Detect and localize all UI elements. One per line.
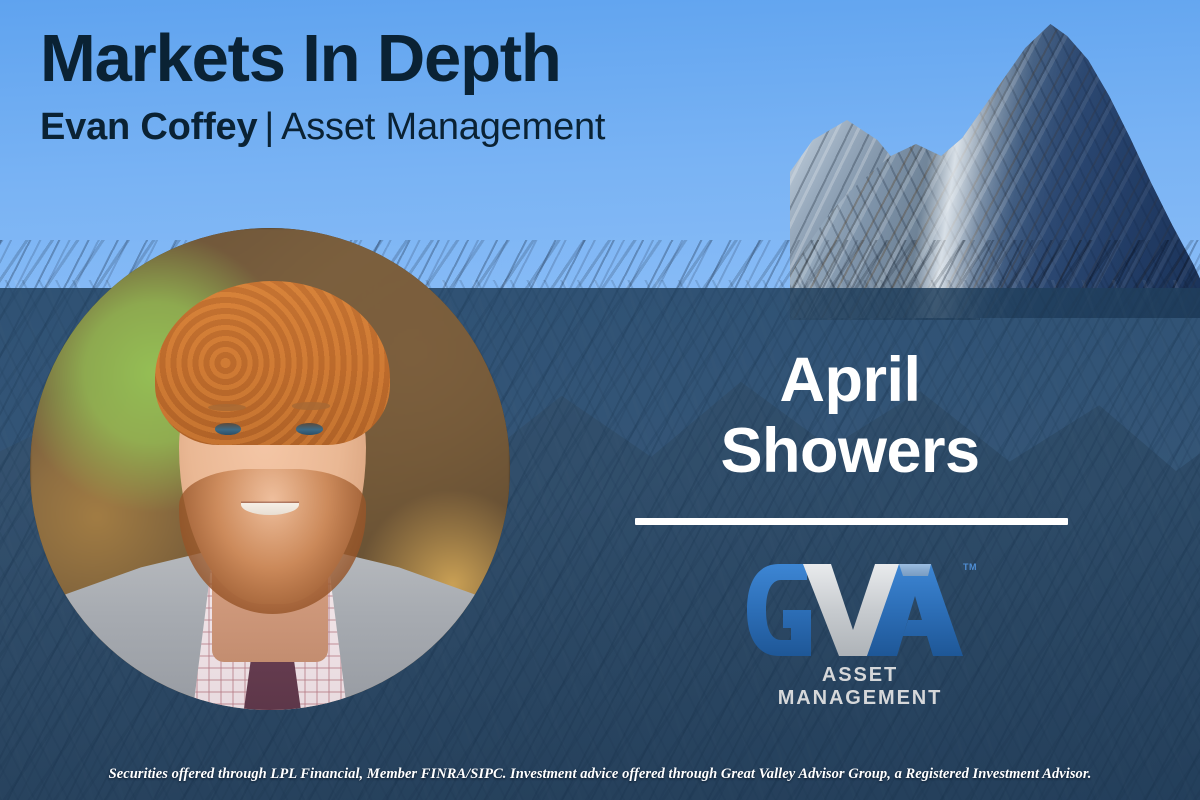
headline-block: April Showers	[630, 345, 1070, 486]
disclaimer-text: Securities offered through LPL Financial…	[0, 766, 1200, 783]
headline-line-1: April	[630, 345, 1070, 416]
gva-logo: TM ASSET MANAGEMENT	[745, 560, 975, 700]
byline: Evan Coffey|Asset Management	[40, 106, 605, 149]
avatar	[30, 228, 510, 710]
page-title: Markets In Depth	[40, 24, 605, 94]
trademark-icon: TM	[963, 562, 977, 572]
department-label: Asset Management	[281, 106, 605, 148]
logo-letter-g	[747, 564, 811, 656]
header-text-block: Markets In Depth Evan Coffey|Asset Manag…	[40, 24, 605, 148]
byline-separator: |	[257, 106, 281, 148]
avatar-eye-left	[215, 423, 241, 435]
gva-logo-icon	[745, 560, 975, 660]
avatar-eyebrow-right	[292, 402, 330, 409]
logo-letter-a-highlight	[899, 564, 931, 576]
avatar-eye-right	[296, 423, 322, 435]
headline-line-2: Showers	[630, 416, 1070, 487]
markets-in-depth-banner: Markets In Depth Evan Coffey|Asset Manag…	[0, 0, 1200, 800]
logo-subtitle: ASSET MANAGEMENT	[745, 664, 975, 710]
divider-rule	[635, 518, 1068, 525]
author-name: Evan Coffey	[40, 106, 257, 148]
